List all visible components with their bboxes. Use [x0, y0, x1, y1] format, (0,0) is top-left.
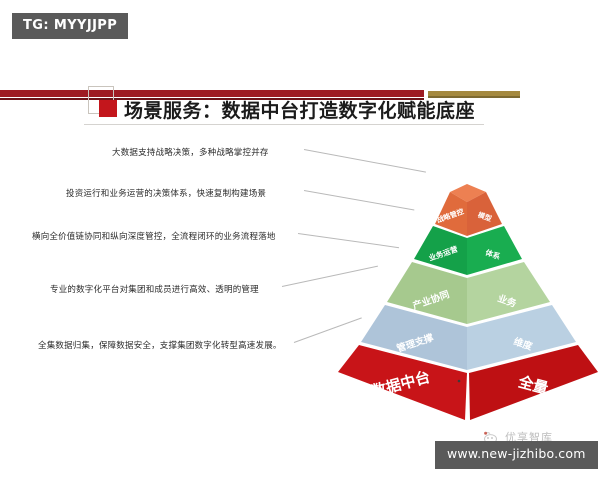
pyramid-level-strategy: 战略管控 模型 — [435, 184, 502, 236]
page-title: 场景服务：数据中台打造数字化赋能底座 — [124, 96, 475, 123]
slide-canvas: 场景服务：数据中台打造数字化赋能底座 大数据支持战略决策，多种战略掌控并存 投资… — [0, 58, 600, 420]
telegram-watermark-tag: TG: MYYJJPP — [12, 13, 128, 39]
title-underline — [84, 124, 484, 125]
callout-label-5: 全集数据归集，保障数据安全，支撑集团数字化转型高速发展。 — [38, 339, 282, 351]
callout-label-1: 大数据支持战略决策，多种战略掌控并存 — [112, 146, 269, 158]
callout-label-3: 横向全价值链协同和纵向深度管控，全流程闭环的业务流程落地 — [32, 230, 276, 242]
callout-label-4: 专业的数字化平台对集团和成员进行高效、透明的管理 — [50, 283, 259, 295]
pyramid-center-dot — [458, 380, 461, 383]
pyramid-diagram: 战略管控 模型 业务运营 体系 产业协同 业务 管理支撑 — [334, 132, 600, 422]
callout-label-2: 投资运行和业务运营的决策体系，快速复制构建场景 — [66, 187, 266, 199]
title-bullet-square — [99, 100, 117, 117]
footer-url-bar: www.new-jizhibo.com — [435, 441, 598, 469]
